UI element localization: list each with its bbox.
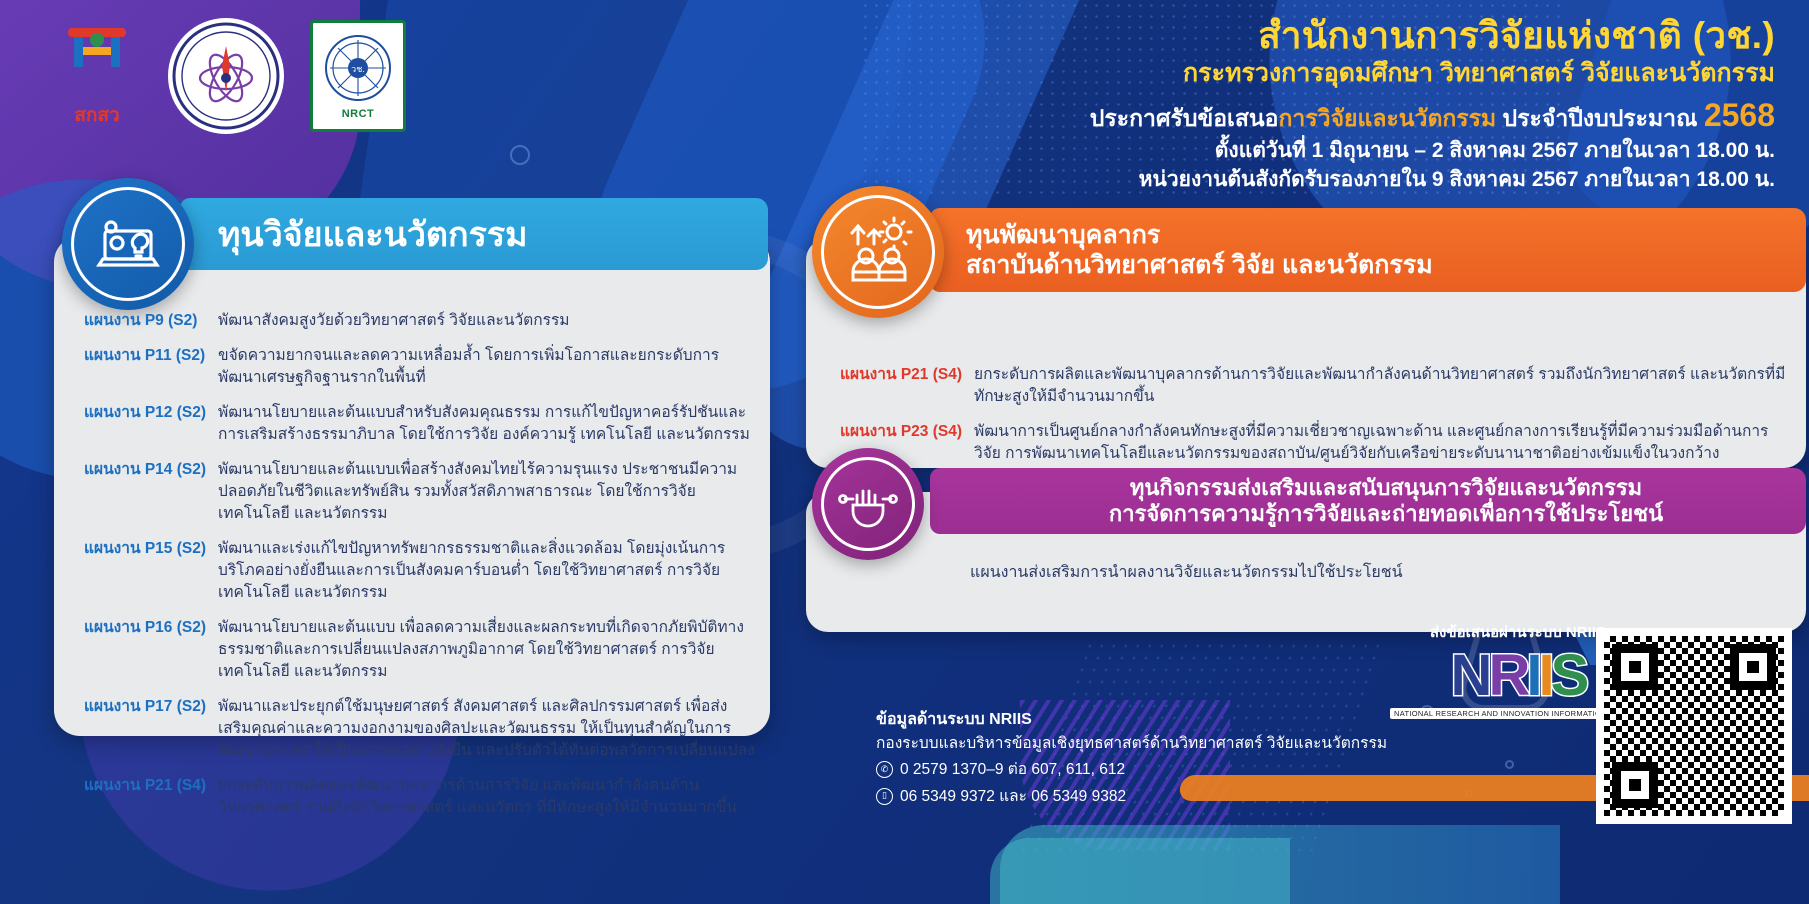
qr-code[interactable] bbox=[1596, 628, 1792, 824]
research-item-list: แผนงาน P9 (S2) พัฒนาสังคมสูงวัยด้วยวิทยา… bbox=[84, 310, 756, 832]
nriis-letter-n: N bbox=[1451, 643, 1489, 708]
poster-root: สกสว กระทรวงการอุดมศึกษา วิทยาศาสตร์ วิจ… bbox=[0, 0, 1809, 904]
list-item: แผนงาน P21 (S4) ยกระดับการผลิตและพัฒนาบุ… bbox=[84, 775, 756, 819]
submission-period: ตั้งแต่วันที่ 1 มิถุนายน – 2 สิงหาคม 256… bbox=[1090, 139, 1775, 164]
logo-nrct-label: NRCT bbox=[342, 108, 375, 120]
endorsement-period: หน่วยงานต้นสังกัดรับรองภายใน 9 สิงหาคม 2… bbox=[1090, 168, 1775, 193]
logo-sktw: สกสว bbox=[52, 20, 142, 132]
plan-code: แผนงาน P17 (S2) bbox=[84, 696, 218, 762]
plan-desc: พัฒนานโยบายและต้นแบบ เพื่อลดความเสี่ยงแล… bbox=[218, 617, 756, 683]
activity-badge bbox=[812, 448, 924, 560]
announcement-line: ประกาศรับข้อเสนอการวิจัยและนวัตกรรม ประจ… bbox=[1090, 97, 1775, 135]
activity-banner: ทุนกิจกรรมส่งเสริมและสนับสนุนการวิจัยและ… bbox=[930, 468, 1806, 534]
list-item: แผนงาน P21 (S4) ยกระดับการผลิตและพัฒนาบุ… bbox=[840, 364, 1790, 408]
personnel-title-line1: ทุนพัฒนาบุคลากร bbox=[966, 220, 1433, 250]
plan-code: แผนงาน P16 (S2) bbox=[84, 617, 218, 683]
decor-circle-small-1 bbox=[510, 145, 530, 165]
logo-sktw-label: สกสว bbox=[74, 100, 119, 130]
plan-desc: พัฒนาและเร่งแก้ไขปัญหาทรัพยากรธรรมชาติแล… bbox=[218, 538, 756, 604]
contact-block: ข้อมูลด้านระบบ NRIIS กองระบบและบริหารข้อ… bbox=[876, 708, 1387, 808]
list-item: แผนงาน P15 (S2) พัฒนาและเร่งแก้ไขปัญหาทร… bbox=[84, 538, 756, 604]
activity-title-line1: ทุนกิจกรรมส่งเสริมและสนับสนุนการวิจัยและ… bbox=[1109, 475, 1663, 501]
plan-desc: พัฒนาการเป็นศูนย์กลางกำลังคนทักษะสูงที่ม… bbox=[974, 421, 1790, 465]
announce-mid: ประจำปีงบประมาณ bbox=[1496, 105, 1704, 131]
plan-desc: พัฒนาสังคมสูงวัยด้วยวิทยาศาสตร์ วิจัยและ… bbox=[218, 310, 756, 332]
nriis-letter-i1: I bbox=[1526, 643, 1538, 708]
research-title: ทุนวิจัยและนวัตกรรม bbox=[218, 207, 528, 261]
list-item: แผนงาน P14 (S2) พัฒนานโยบายและต้นแบบเพื่… bbox=[84, 459, 756, 525]
list-item: แผนงาน P12 (S2) พัฒนานโยบายและต้นแบบสำหร… bbox=[84, 402, 756, 446]
plan-desc: พัฒนานโยบายและต้นแบบเพื่อสร้างสังคมไทยไร… bbox=[218, 459, 756, 525]
personnel-badge bbox=[812, 186, 944, 318]
nriis-letter-i2: I bbox=[1538, 643, 1550, 708]
plan-code: แผนงาน P15 (S2) bbox=[84, 538, 218, 604]
list-item: แผนงาน P16 (S2) พัฒนานโยบายและต้นแบบ เพื… bbox=[84, 617, 756, 683]
plan-desc: ขจัดความยากจนและลดความเหลื่อมล้ำ โดยการเ… bbox=[218, 345, 756, 389]
activity-note: แผนงานส่งเสริมการนำผลงานวิจัยและนวัตกรรม… bbox=[970, 560, 1403, 585]
contact-phone: 0 2579 1370–9 ต่อ 607, 611, 612 bbox=[900, 758, 1125, 781]
plan-code: แผนงาน P9 (S2) bbox=[84, 310, 218, 332]
org-title: สำนักงานการวิจัยแห่งชาติ (วช.) bbox=[1090, 14, 1775, 58]
personnel-item-list: แผนงาน P21 (S4) ยกระดับการผลิตและพัฒนาบุ… bbox=[840, 364, 1790, 478]
plan-code: แผนงาน P21 (S4) bbox=[84, 775, 218, 819]
plan-code: แผนงาน P21 (S4) bbox=[840, 364, 974, 408]
logo-nrct: วช. NRCT bbox=[310, 20, 406, 132]
contact-mobile-row: ▯ 06 5349 9372 และ 06 5349 9382 bbox=[876, 785, 1387, 808]
personnel-banner: ทุนพัฒนาบุคลากร สถาบันด้านวิทยาศาสตร์ วิ… bbox=[930, 208, 1806, 292]
logo-nrct-abbr: วช. bbox=[351, 64, 365, 74]
logo-mhesi: กระทรวงการอุดมศึกษา วิทยาศาสตร์ วิจัยและ… bbox=[168, 18, 284, 134]
phone-icon: ✆ bbox=[876, 761, 893, 778]
decor-circle-small-3 bbox=[1505, 760, 1514, 769]
contact-title: ข้อมูลด้านระบบ NRIIS bbox=[876, 708, 1387, 732]
list-item: แผนงาน P9 (S2) พัฒนาสังคมสูงวัยด้วยวิทยา… bbox=[84, 310, 756, 332]
header-text-block: สำนักงานการวิจัยแห่งชาติ (วช.) กระทรวงกา… bbox=[1090, 14, 1775, 192]
activity-title-line2: การจัดการความรู้การวิจัยและถ่ายทอดเพื่อก… bbox=[1109, 501, 1663, 527]
decor-teal-band bbox=[1000, 825, 1560, 904]
contact-department: กองระบบและบริหารข้อมูลเชิงยุทธศาสตร์ด้าน… bbox=[876, 732, 1387, 755]
contact-mobile: 06 5349 9372 และ 06 5349 9382 bbox=[900, 785, 1126, 808]
plan-desc: ยกระดับการผลิตและพัฒนาบุคลากรด้านการวิจั… bbox=[218, 775, 756, 819]
plan-desc: พัฒนานโยบายและต้นแบบสำหรับสังคมคุณธรรม ก… bbox=[218, 402, 756, 446]
decor-teal-band-2 bbox=[990, 838, 1290, 904]
plan-code: แผนงาน P14 (S2) bbox=[84, 459, 218, 525]
plan-desc: ยกระดับการผลิตและพัฒนาบุคลากรด้านการวิจั… bbox=[974, 364, 1790, 408]
list-item: แผนงาน P11 (S2) ขจัดความยากจนและลดความเห… bbox=[84, 345, 756, 389]
contact-phone-row: ✆ 0 2579 1370–9 ต่อ 607, 611, 612 bbox=[876, 758, 1387, 781]
research-badge bbox=[62, 178, 194, 310]
logo-strip: สกสว กระทรวงการอุดมศึกษา วิทยาศาสตร์ วิจ… bbox=[52, 18, 406, 134]
announce-year: 2568 bbox=[1704, 97, 1775, 133]
research-banner: ทุนวิจัยและนวัตกรรม bbox=[180, 198, 768, 270]
announce-prefix: ประกาศรับข้อเสนอ bbox=[1090, 105, 1279, 131]
list-item: แผนงาน P17 (S2) พัฒนาและประยุกต์ใช้มนุษย… bbox=[84, 696, 756, 762]
mobile-icon: ▯ bbox=[876, 788, 893, 805]
ministry-title: กระทรวงการอุดมศึกษา วิทยาศาสตร์ วิจัยและ… bbox=[1090, 59, 1775, 89]
plan-code: แผนงาน P11 (S2) bbox=[84, 345, 218, 389]
nriis-letter-s: S bbox=[1551, 643, 1586, 708]
announce-highlight: การวิจัยและนวัตกรรม bbox=[1278, 105, 1496, 131]
decor-circle-small-4 bbox=[1465, 790, 1473, 798]
personnel-title-line2: สถาบันด้านวิทยาศาสตร์ วิจัย และนวัตกรรม bbox=[966, 250, 1433, 280]
plan-desc: พัฒนาและประยุกต์ใช้มนุษยศาสตร์ สังคมศาสต… bbox=[218, 696, 756, 762]
plan-code: แผนงาน P12 (S2) bbox=[84, 402, 218, 446]
list-item: แผนงาน P23 (S4) พัฒนาการเป็นศูนย์กลางกำล… bbox=[840, 421, 1790, 465]
nriis-letter-r: R bbox=[1488, 643, 1526, 708]
